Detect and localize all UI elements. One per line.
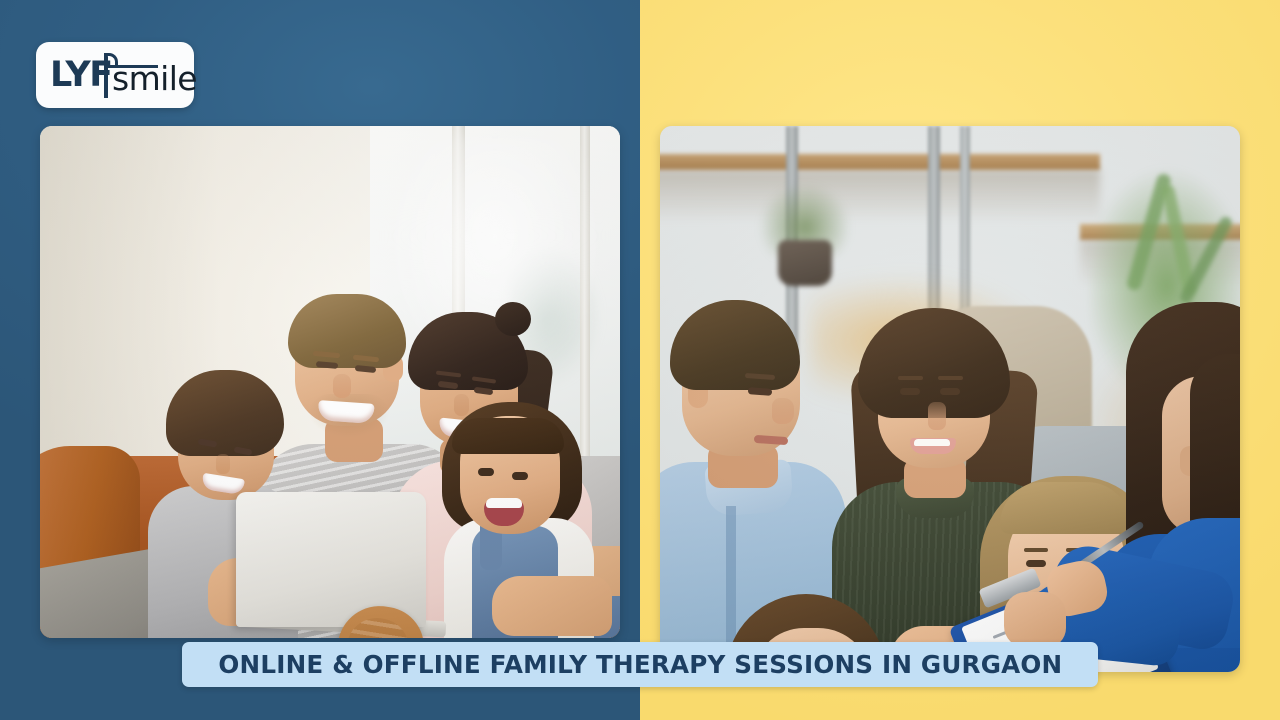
online-session-scene	[40, 126, 620, 638]
family-online-session-photo	[40, 126, 620, 638]
right-photo-vignette	[660, 126, 1240, 672]
left-photo-vignette	[40, 126, 620, 638]
headline-text: ONLINE & OFFLINE FAMILY THERAPY SESSIONS…	[218, 650, 1062, 679]
promo-banner-canvas: smile LYF ONLINE & OFFLINE FAMILY THERAP…	[0, 0, 1280, 720]
headline-banner: ONLINE & OFFLINE FAMILY THERAPY SESSIONS…	[182, 642, 1098, 687]
lyfsmile-logo[interactable]: smile LYF	[36, 42, 194, 108]
family-offline-session-photo	[660, 126, 1240, 672]
logo-lyf-text: LYF	[50, 56, 112, 94]
logo-wordmark: smile LYF	[48, 49, 182, 101]
logo-f-crossbar-icon	[104, 65, 158, 68]
offline-session-scene	[660, 126, 1240, 672]
